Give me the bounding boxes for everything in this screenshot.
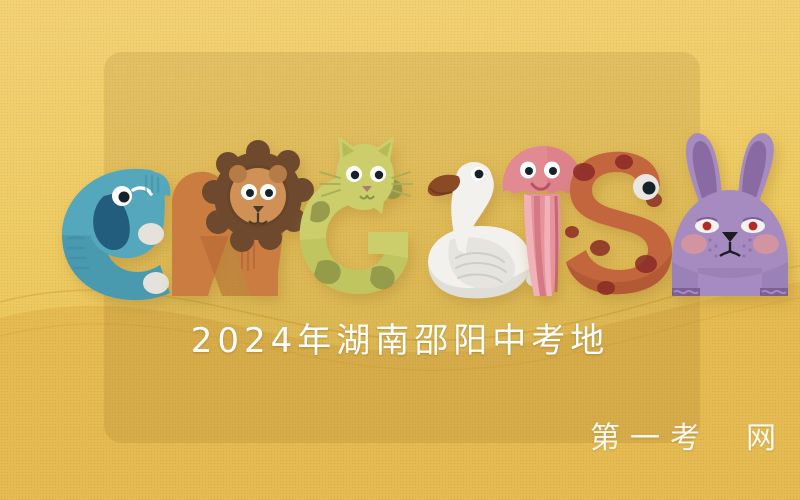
site-watermark: 第一考网	[512, 378, 786, 492]
cover-title-line-1: 2024年湖南邵阳中考地	[0, 312, 800, 370]
site-watermark-part-2: 网	[746, 421, 786, 456]
site-watermark-part-1: 第一考	[590, 421, 710, 456]
cover-image-canvas: 2024年湖南邵阳中考地 理及答案(Word版) 第一考网	[0, 0, 800, 500]
